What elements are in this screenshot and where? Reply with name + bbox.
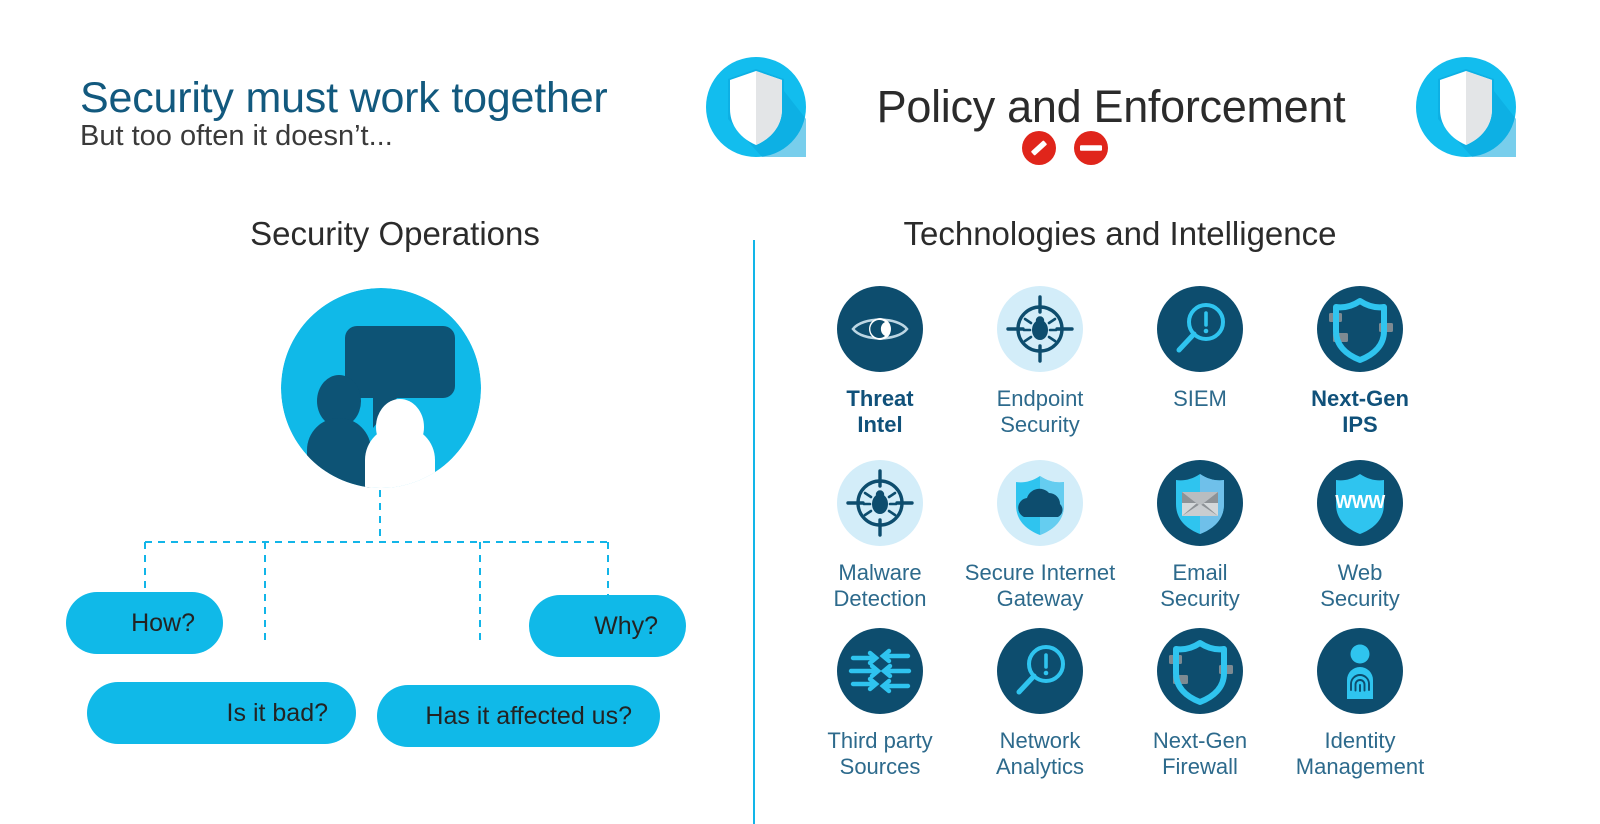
- question-pill-why[interactable]: Why?: [529, 595, 686, 657]
- magnifier-alert-icon: [997, 628, 1083, 714]
- svg-text:WWW: WWW: [1335, 492, 1385, 512]
- tech-item-endpoint-security[interactable]: Endpoint Security: [960, 286, 1120, 460]
- tech-item-label: Malware Detection: [834, 560, 927, 612]
- policy-title: Policy and Enforcement: [877, 82, 1346, 132]
- tech-item-email-security[interactable]: Email Security: [1120, 460, 1280, 628]
- tech-item-label: SIEM: [1173, 386, 1227, 412]
- tech-item-label: Web Security: [1320, 560, 1399, 612]
- section-heading-technologies: Technologies and Intelligence: [790, 214, 1450, 254]
- collaboration-people-icon: [281, 288, 481, 488]
- tech-item-next-gen-firewall[interactable]: Next-Gen Firewall: [1120, 628, 1280, 798]
- cloud-shield-icon: [997, 460, 1083, 546]
- question-pill-how[interactable]: How?: [66, 592, 223, 654]
- shield-icon: [1416, 57, 1516, 157]
- shield-icon: [706, 57, 806, 157]
- vertical-divider: [753, 240, 755, 824]
- shield-www-icon: WWW: [1317, 460, 1403, 546]
- no-entry-slash-icon: [1021, 130, 1057, 166]
- tech-item-label: Email Security: [1160, 560, 1239, 612]
- section-heading-security-operations: Security Operations: [80, 214, 710, 254]
- tech-item-identity-management[interactable]: Identity Management: [1280, 628, 1440, 798]
- crosshair-bug-icon: [837, 460, 923, 546]
- shield-envelope-icon: [1157, 460, 1243, 546]
- tech-item-threat-intel[interactable]: Threat Intel: [800, 286, 960, 460]
- tech-item-label: Endpoint Security: [997, 386, 1084, 438]
- question-pill-is-it-bad[interactable]: Is it bad?: [87, 682, 356, 744]
- no-entry-bar-icon: [1073, 130, 1109, 166]
- converging-arrows-icon: [837, 628, 923, 714]
- tech-item-label: Network Analytics: [996, 728, 1084, 780]
- tech-item-label: Secure Internet Gateway: [965, 560, 1115, 612]
- tech-item-label: Next-Gen IPS: [1311, 386, 1409, 438]
- question-pill-has-it-affected-us[interactable]: Has it affected us?: [377, 685, 660, 747]
- tech-item-third-party-sources[interactable]: Third party Sources: [800, 628, 960, 798]
- page-title: Security must work together: [80, 72, 720, 124]
- tech-item-siem[interactable]: SIEM: [1120, 286, 1280, 460]
- tech-item-secure-internet-gateway[interactable]: Secure Internet Gateway: [960, 460, 1120, 628]
- deny-icon-group: [1021, 130, 1131, 166]
- tech-item-label: Next-Gen Firewall: [1153, 728, 1247, 780]
- eye-icon: [837, 286, 923, 372]
- tech-item-web-security[interactable]: WWW Web Security: [1280, 460, 1440, 628]
- tech-item-label: Identity Management: [1296, 728, 1424, 780]
- tech-item-label: Third party Sources: [827, 728, 932, 780]
- tech-item-malware-detection[interactable]: Malware Detection: [800, 460, 960, 628]
- fingerprint-person-icon: [1317, 628, 1403, 714]
- magnifier-alert-icon: [1157, 286, 1243, 372]
- tech-item-network-analytics[interactable]: Network Analytics: [960, 628, 1120, 798]
- tech-item-label: Threat Intel: [846, 386, 913, 438]
- crosshair-bug-icon: [997, 286, 1083, 372]
- shield-ports-icon: [1157, 628, 1243, 714]
- tech-item-next-gen-ips[interactable]: Next-Gen IPS: [1280, 286, 1440, 460]
- page-subtitle: But too often it doesn’t...: [80, 119, 720, 153]
- shield-ports-icon: [1317, 286, 1403, 372]
- technology-grid: Threat Intel Endpoint Security: [800, 286, 1440, 824]
